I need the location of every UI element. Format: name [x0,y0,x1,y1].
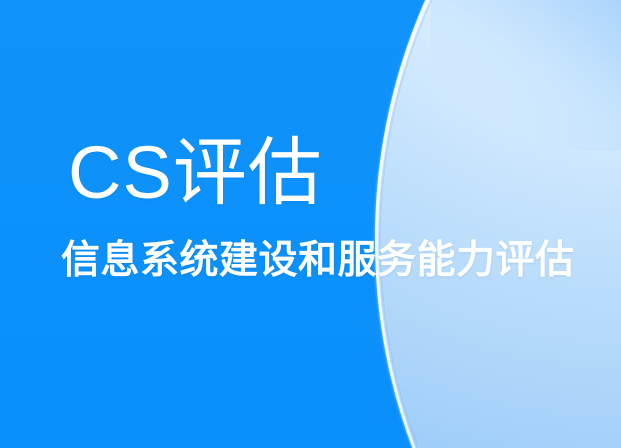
banner-content: CS评估 信息系统建设和服务能力评估 [0,0,621,448]
cs-assessment-banner: CS评估 信息系统建设和服务能力评估 [0,0,621,448]
page-subtitle: 信息系统建设和服务能力评估 [61,240,575,283]
page-title: CS评估 [68,136,323,210]
